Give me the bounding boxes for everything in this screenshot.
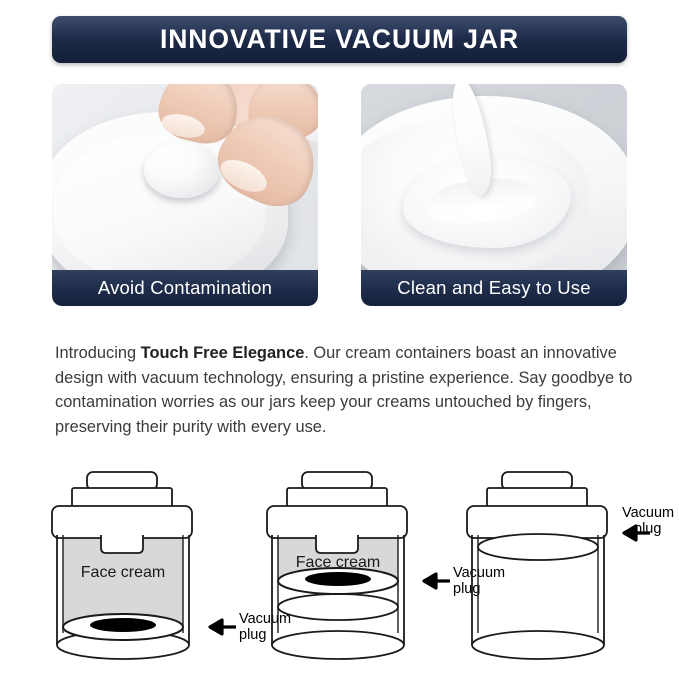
jar1-plug-center (90, 618, 156, 632)
jar1-cream-label: Face cream (81, 564, 165, 581)
jar1-lid-body (52, 506, 192, 538)
jar2-cream-label: Face cream (296, 554, 380, 571)
cream-dollop-shape (144, 142, 220, 198)
jar1-plug-label-line1: Vacuum (239, 611, 291, 627)
photo-card-clean-and-easy: Clean and Easy to Use (361, 84, 627, 306)
jar3-base-ellipse (472, 631, 604, 659)
jar2-lid-inner-tab (316, 535, 358, 553)
photo-cards-row: Avoid Contamination Clean and Easy to Us… (52, 84, 627, 306)
vacuum-jar-diagram-group: Face cream Vacuum plug Face cream Vacuum… (0, 455, 679, 679)
body-bold-phrase: Touch Free Elegance (141, 344, 305, 362)
jar2-plug-label-line1: Vacuum (453, 565, 505, 581)
caption-bar-avoid-contamination: Avoid Contamination (52, 270, 318, 306)
jar2-lid-collar (287, 488, 387, 508)
jar2-base-ellipse (272, 631, 404, 659)
body-lead: Introducing (55, 344, 141, 362)
jar3-plug-callout: Vacuum plug (622, 505, 674, 540)
jar2-lid-body (267, 506, 407, 538)
jar-diagram-half: Face cream Vacuum plug (267, 472, 505, 659)
jar1-lid-inner-tab (101, 535, 143, 553)
body-paragraph: Introducing Touch Free Elegance. Our cre… (55, 341, 635, 439)
jar3-lid-collar (487, 488, 587, 508)
jar2-plug-travel-ellipse (278, 594, 398, 620)
header-banner: INNOVATIVE VACUUM JAR (52, 16, 627, 63)
jar3-plug-label-line1: Vacuum (622, 505, 674, 521)
jar2-plug-callout: Vacuum plug (424, 565, 505, 597)
caption-label: Avoid Contamination (98, 277, 272, 299)
photo-card-avoid-contamination: Avoid Contamination (52, 84, 318, 306)
left-arrow-icon (210, 620, 236, 634)
caption-label: Clean and Easy to Use (397, 277, 590, 299)
jar-diagram-svg: Face cream Vacuum plug Face cream Vacuum… (0, 455, 679, 679)
caption-bar-clean-and-easy: Clean and Easy to Use (361, 270, 627, 306)
jar2-plug-label-line2: plug (453, 581, 480, 597)
left-arrow-icon (424, 574, 450, 588)
jar1-plug-label-line2: plug (239, 627, 266, 643)
jar2-plug-center (305, 572, 371, 586)
page-title: INNOVATIVE VACUUM JAR (160, 24, 519, 55)
jar-diagram-full: Face cream Vacuum plug (52, 472, 291, 659)
jar3-plug-label-line2: plug (634, 521, 661, 537)
jar1-lid-collar (72, 488, 172, 508)
jar3-plug-disc (478, 534, 598, 560)
